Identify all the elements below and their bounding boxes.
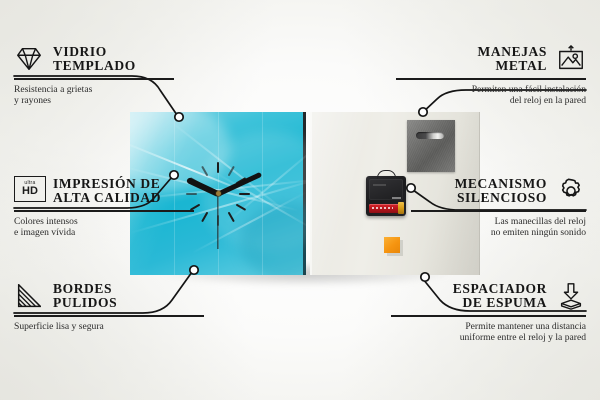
foam-spacer-icon	[556, 281, 586, 311]
callout-mecanismo-silencioso: MECANISMO SILENCIOSO Las manecillas del …	[371, 176, 586, 239]
foam-spacer	[384, 237, 400, 253]
hd-label: HD	[22, 186, 38, 197]
callout-bordes-pulidos: BORDES PULIDOS Superficie lisa y segura	[14, 281, 229, 332]
callout-subtitle-line1: Permite mantener una distancia	[371, 321, 586, 333]
callout-subtitle-line1: Colores intensos	[14, 216, 229, 228]
callout-title: BORDES PULIDOS	[53, 282, 117, 311]
callout-subtitle-line1: Superficie lisa y segura	[14, 321, 229, 333]
callout-header: VIDRIO TEMPLADO	[14, 44, 229, 74]
hanger-keyhole-slot	[416, 132, 444, 139]
callout-subtitle-line2: e imagen vívida	[14, 227, 229, 239]
callout-title: VIDRIO TEMPLADO	[53, 45, 136, 74]
ultra-hd-icon: ultra HD	[14, 176, 44, 206]
callout-vidrio-templado: VIDRIO TEMPLADO Resistencia a grietas y …	[14, 44, 229, 107]
callout-title: MANEJAS METAL	[478, 45, 547, 74]
callout-rule	[396, 78, 586, 80]
callout-subtitle-line1: Resistencia a grietas	[14, 84, 229, 96]
callout-subtitle-line1: Permiten una fácil instalación	[371, 84, 586, 96]
callout-subtitle-line2: del reloj en la pared	[371, 95, 586, 107]
diamond-icon	[14, 44, 44, 74]
callout-header: BORDES PULIDOS	[14, 281, 229, 311]
callout-subtitle-line1: Las manecillas del reloj	[371, 216, 586, 228]
polished-edge-icon	[14, 281, 44, 311]
callout-impresion-alta-calidad: ultra HD IMPRESIÓN DE ALTA CALIDAD Color…	[14, 176, 229, 239]
callout-header: ultra HD IMPRESIÓN DE ALTA CALIDAD	[14, 176, 229, 206]
infographic-canvas: VIDRIO TEMPLADO Resistencia a grietas y …	[0, 0, 600, 400]
callout-title: ESPACIADOR DE ESPUMA	[453, 282, 547, 311]
framed-picture-icon	[556, 44, 586, 74]
callout-espaciador-espuma: ESPACIADOR DE ESPUMA Permite mantener un…	[371, 281, 586, 344]
callout-rule	[14, 78, 174, 80]
callout-rule	[411, 210, 586, 212]
callout-header: ESPACIADOR DE ESPUMA	[371, 281, 586, 311]
callout-header: MANEJAS METAL	[371, 44, 586, 74]
callout-subtitle-line2: y rayones	[14, 95, 229, 107]
callout-header: MECANISMO SILENCIOSO	[371, 176, 586, 206]
callout-manejas-metal: MANEJAS METAL Permiten una fácil instala…	[371, 44, 586, 107]
callout-rule	[14, 210, 194, 212]
callout-title: IMPRESIÓN DE ALTA CALIDAD	[53, 177, 161, 206]
metal-grain	[407, 120, 455, 172]
metal-hanger-plate	[407, 120, 455, 172]
callout-rule	[391, 315, 586, 317]
callout-subtitle-line2: no emiten ningún sonido	[371, 227, 586, 239]
callout-title: MECANISMO SILENCIOSO	[455, 177, 547, 206]
callout-subtitle-line2: uniforme entre el reloj y la pared	[371, 332, 586, 344]
gear-icon	[556, 176, 586, 206]
callout-rule	[14, 315, 204, 317]
